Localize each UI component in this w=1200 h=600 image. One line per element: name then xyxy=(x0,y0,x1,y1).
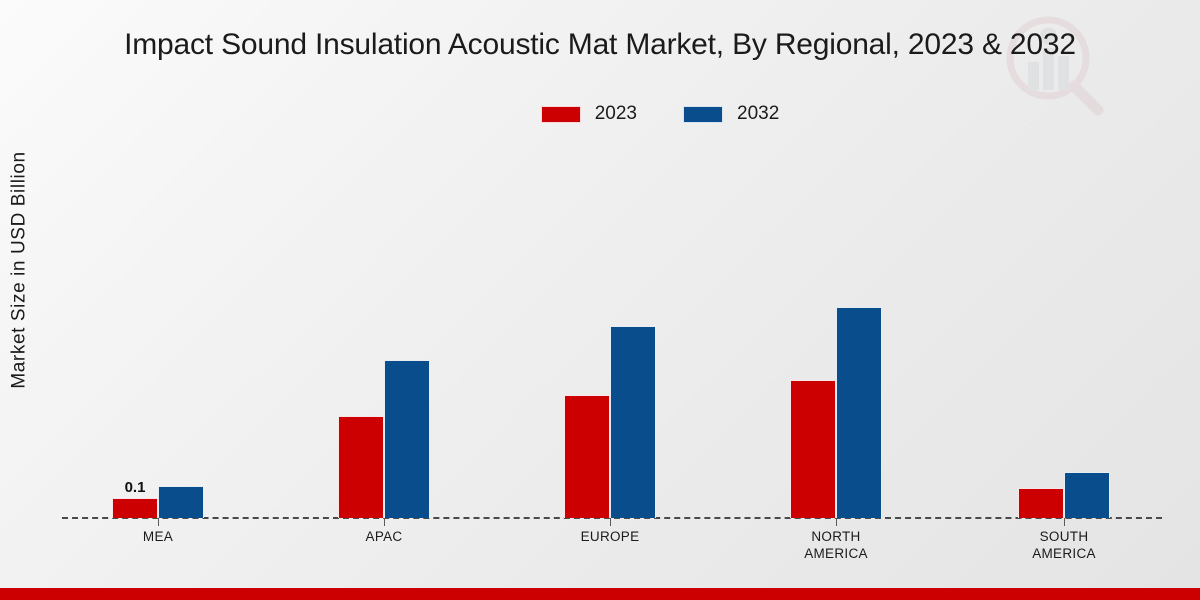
category-label-mea: MEA xyxy=(78,528,238,545)
bar-group-apac xyxy=(338,138,430,518)
bar-mea-2032[interactable] xyxy=(158,486,204,518)
category-label-south-america-line2: AMERICA xyxy=(984,545,1144,562)
category-label-apac-line1: APAC xyxy=(304,528,464,545)
bar-north-america-2023[interactable] xyxy=(790,380,836,518)
plot-area: 0.1 MEA APAC xyxy=(0,0,1200,600)
bar-wrap-north-america-2023 xyxy=(790,380,836,518)
bar-group-north-america xyxy=(790,138,882,518)
bar-south-america-2023[interactable] xyxy=(1018,488,1064,518)
bar-wrap-south-america-2023 xyxy=(1018,488,1064,518)
bar-wrap-mea-2023: 0.1 xyxy=(112,498,158,518)
category-label-mea-line1: MEA xyxy=(78,528,238,545)
bar-apac-2032[interactable] xyxy=(384,360,430,518)
bottom-accent-bar xyxy=(0,588,1200,600)
bar-wrap-europe-2023 xyxy=(564,395,610,518)
category-label-north-america-line1: NORTH xyxy=(756,528,916,545)
bar-mea-2023[interactable] xyxy=(112,498,158,518)
bar-group-south-america xyxy=(1018,138,1110,518)
bar-value-mea-2023: 0.1 xyxy=(112,479,158,496)
bar-wrap-apac-2023 xyxy=(338,416,384,518)
bar-north-america-2032[interactable] xyxy=(836,307,882,518)
category-label-apac: APAC xyxy=(304,528,464,545)
bar-group-mea: 0.1 xyxy=(112,138,204,518)
bar-group-europe xyxy=(564,138,656,518)
bar-europe-2023[interactable] xyxy=(564,395,610,518)
bar-south-america-2032[interactable] xyxy=(1064,472,1110,518)
category-label-north-america: NORTH AMERICA xyxy=(756,528,916,562)
category-label-south-america: SOUTH AMERICA xyxy=(984,528,1144,562)
tick-mea xyxy=(158,518,159,526)
bar-europe-2032[interactable] xyxy=(610,326,656,518)
category-label-europe: EUROPE xyxy=(530,528,690,545)
chart-canvas: Impact Sound Insulation Acoustic Mat Mar… xyxy=(0,0,1200,600)
category-label-south-america-line1: SOUTH xyxy=(984,528,1144,545)
category-label-north-america-line2: AMERICA xyxy=(756,545,916,562)
tick-apac xyxy=(384,518,385,526)
category-label-europe-line1: EUROPE xyxy=(530,528,690,545)
tick-south-america xyxy=(1064,518,1065,526)
tick-europe xyxy=(610,518,611,526)
bar-apac-2023[interactable] xyxy=(338,416,384,518)
tick-north-america xyxy=(836,518,837,526)
